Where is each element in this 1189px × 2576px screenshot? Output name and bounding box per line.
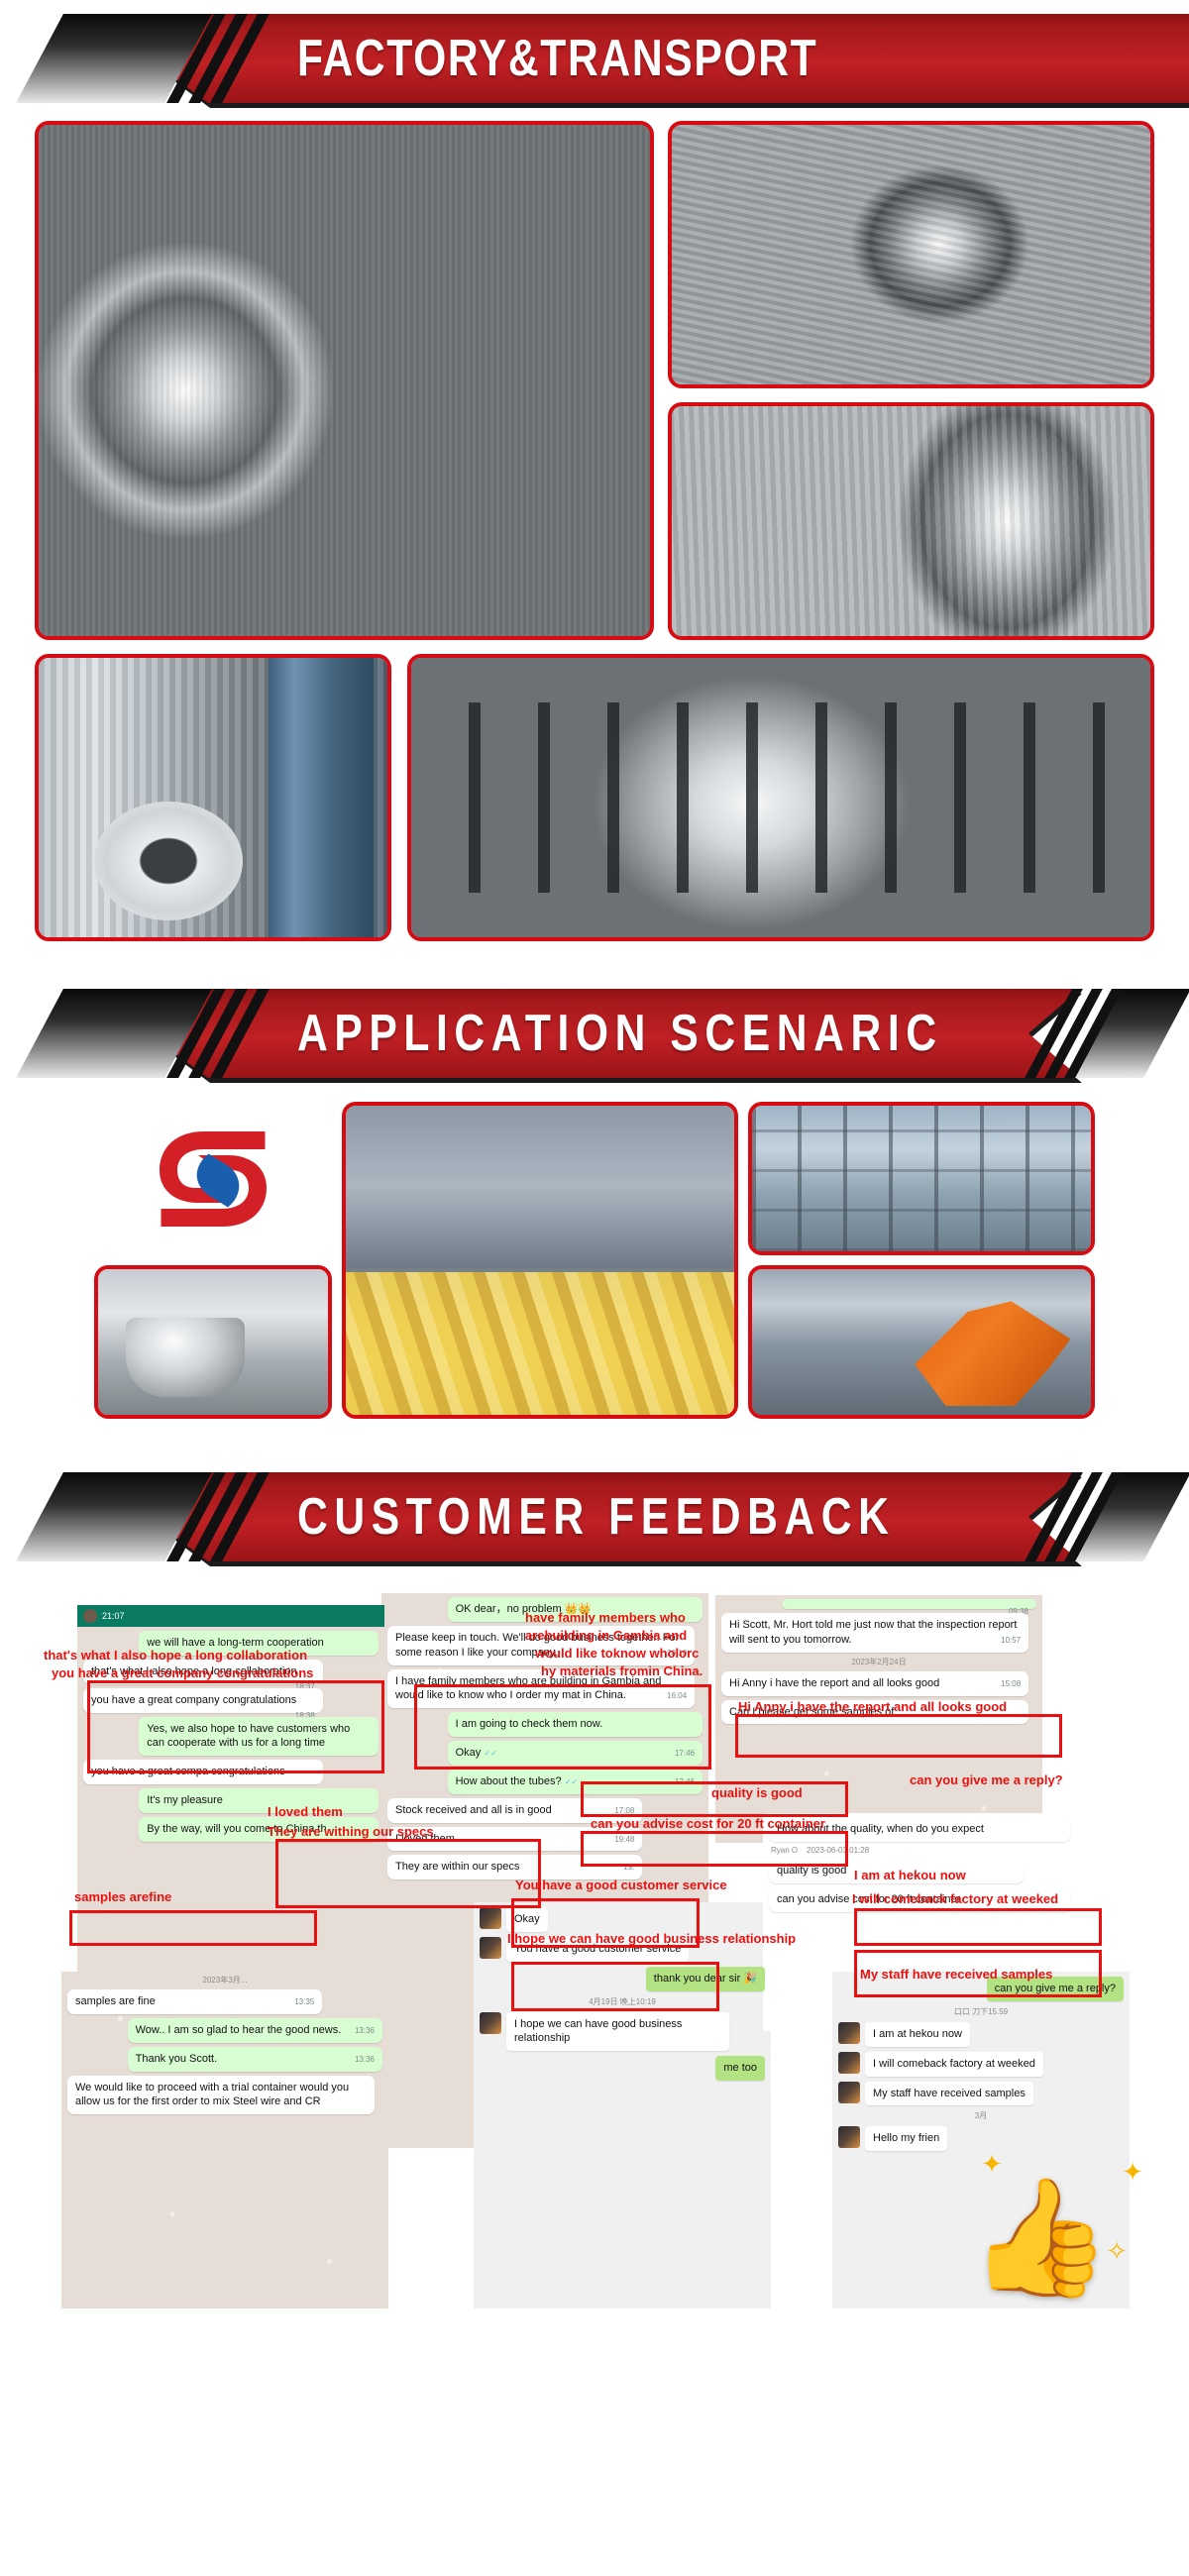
chat-row: I am at hekou now (838, 2022, 1124, 2047)
customer-feedback-collage: 21:07 we will have a long-term cooperati… (0, 1575, 1189, 2328)
image-coil-slitting-machine (668, 121, 1154, 388)
chat-bubble: Yes, we also hope to have customers who … (139, 1717, 378, 1757)
chat-meta: 口口 刀下15.59 (832, 2006, 1130, 2017)
section-banner-application: APPLICATION SCENARIC (0, 975, 1189, 1092)
chat-bubble: Wow.. I am so glad to hear the good news… (128, 2018, 382, 2043)
chat-bubble: How about the tubes? 17:46 ✓✓ (448, 1770, 703, 1794)
chat-bubble: Hi Anny i have the report and all looks … (721, 1671, 1028, 1696)
annotation-text: that's what I also hope a long collabora… (44, 1649, 307, 1664)
annotation-text: quality is good (711, 1786, 803, 1801)
chat-bubble: 09:38 (782, 1599, 1036, 1609)
factory-image-grid (35, 121, 1154, 941)
banner-bar: CUSTOMER FEEDBACK (149, 1472, 1080, 1561)
image-automotive-robots (748, 1265, 1095, 1419)
annotation-text: You have a good customer service (515, 1878, 727, 1893)
section-title-factory: FACTORY&TRANSPORT (297, 29, 817, 88)
image-coil-closeup (668, 402, 1154, 640)
chat-screenshot-samples-are-fine: 2023年3月... samples are fine 13:35 Wow.. … (61, 1972, 388, 2308)
banner-stripes-left (40, 1472, 268, 1561)
image-food-processing-line (342, 1102, 738, 1419)
chat-row: I hope we can have good business relatio… (480, 2012, 765, 2052)
banner-bar: APPLICATION SCENARIC (149, 989, 1080, 1078)
annotation-text: can you give me a reply? (910, 1773, 1063, 1788)
banner-stripes-left (40, 989, 268, 1078)
sparkle-icon: ✦ (1122, 2157, 1143, 2188)
avatar (838, 2052, 860, 2074)
chat-bubble: We would like to proceed with a trial co… (67, 2076, 375, 2115)
image-company-logo (94, 1102, 332, 1255)
chat-row: me too (480, 2056, 765, 2081)
annotation-text: hy materials fromin China. (541, 1664, 703, 1679)
chat-text: Wow.. I am so glad to hear the good news… (136, 2024, 342, 2036)
image-kitchenware-pots (94, 1265, 332, 1419)
chat-bubble: Okay (506, 1907, 548, 1932)
chat-row: Hello my frien (838, 2126, 1124, 2151)
chat-time: 13:36 (355, 2026, 375, 2037)
avatar (480, 1937, 501, 1959)
chat-bubble: Thank you Scott. 13:36 (128, 2047, 382, 2072)
annotation-text: I am at hekou now (854, 1869, 966, 1883)
annotation-text: They are withing our specs (268, 1825, 434, 1840)
chat-time: 13:35 (294, 1997, 314, 2008)
chat-bubble: My staff have received samples (865, 2082, 1033, 2106)
annotation-text: My staff have received samples (860, 1968, 1052, 1983)
read-receipt-icon: ✓✓ (565, 1777, 578, 1786)
contact-avatar-icon (83, 1609, 97, 1623)
annotation-text: can you advise cost for 20 ft container (591, 1817, 825, 1832)
chat-row: My staff have received samples (838, 2082, 1124, 2106)
chat-date-label: 2023年2月24日 (715, 1657, 1042, 1667)
chat-text: They are within our specs (395, 1861, 519, 1873)
chat-header: 21:07 (77, 1605, 384, 1627)
image-coils-strapped-truck (407, 654, 1154, 941)
chat-bubble: me too (715, 2056, 765, 2081)
avatar (838, 2082, 860, 2103)
chat-bubble: Hi Scott, Mr. Hort told me just now that… (721, 1613, 1028, 1653)
chat-row: Okay (480, 1907, 765, 1932)
chat-text: Okay (456, 1747, 482, 1759)
chat-bubble: thank you dear sir 🎉 (646, 1967, 765, 1991)
chat-time: 15:08 (1001, 1679, 1021, 1690)
annotation-text: I loved them (268, 1805, 343, 1820)
thumbs-up-icon: 👍 (969, 2180, 1112, 2295)
chat-screenshot-inspection-report: 09:38 Hi Scott, Mr. Hort told me just no… (715, 1595, 1042, 1843)
chat-date-label: 2023年3月... (61, 1975, 388, 1986)
annotation-text: would like toknow wholorc (535, 1647, 699, 1662)
chat-text: How about the tubes? (456, 1775, 562, 1787)
banner-bar: FACTORY&TRANSPORT (149, 14, 1189, 103)
chat-sender-meta: Ryan O 2023-06-03 01:28 (763, 1846, 1090, 1855)
chat-meta: 4月19日 晚上10:19 (474, 1996, 771, 2007)
chat-screenshot-customer-service: Okay You have a good customer service th… (474, 1902, 771, 2308)
chat-meta: 3月 (832, 2110, 1130, 2121)
chat-timestamp: 21:07 (102, 1611, 125, 1621)
chat-bubble: I hope we can have good business relatio… (506, 2012, 729, 2052)
annotation-text: samples arefine (74, 1890, 171, 1905)
annotation-text: have family members who (525, 1611, 686, 1626)
chat-bubble: They are within our specs 19: (387, 1855, 642, 1879)
chat-bubble: I will comeback factory at weeked (865, 2052, 1043, 2077)
image-large-steel-coils (35, 121, 654, 640)
annotation-text: Hi Anny i have the report and all looks … (738, 1700, 1007, 1715)
avatar (838, 2126, 860, 2148)
chat-time: 13:36 (355, 2055, 375, 2066)
application-image-grid (94, 1102, 1095, 1419)
chat-time: 17:46 (675, 1777, 695, 1788)
annotation-text: I will comeback factory at weeked (852, 1892, 1058, 1907)
chat-time: 19: (623, 1863, 634, 1874)
annotation-text: arebuilding in Gambia and (525, 1629, 687, 1644)
chat-text: samples are fine (75, 1995, 156, 2007)
sparkle-icon: ✧ (1106, 2236, 1128, 2267)
banner-stripes-right (1048, 989, 1167, 1078)
sender-name: Ryan O (771, 1846, 798, 1855)
chat-text: Hi Scott, Mr. Hort told me just now that… (729, 1619, 1017, 1646)
chat-text: Hi Anny i have the report and all looks … (729, 1677, 939, 1689)
banner-stripes-right (1048, 1472, 1167, 1561)
chat-bubble: I am going to check them now. (448, 1712, 703, 1737)
annotation-text: I hope we can have good business relatio… (507, 1932, 796, 1947)
chat-time: 17:08 (614, 1806, 634, 1817)
avatar (480, 1907, 501, 1929)
sparkle-icon: ✦ (981, 2149, 1003, 2180)
chat-time: 19:48 (614, 1835, 634, 1846)
chat-text: you have a great company congratulations (91, 1694, 296, 1706)
read-receipt-icon: ✓✓ (484, 1749, 496, 1758)
product-detail-page: FACTORY&TRANSPORT (0, 0, 1189, 2328)
section-banner-factory: FACTORY&TRANSPORT (0, 0, 1189, 117)
chat-bubble: Okay 17:46 ✓✓ (448, 1741, 703, 1766)
avatar (838, 2022, 860, 2044)
avatar (480, 2012, 501, 2034)
company-s-logo-icon (139, 1105, 287, 1253)
image-steel-structure (748, 1102, 1095, 1255)
chat-bubble: samples are fine 13:35 (67, 1989, 322, 2014)
image-container-loading (35, 654, 391, 941)
section-title-feedback: CUSTOMER FEEDBACK (297, 1487, 895, 1547)
chat-time: 17:46 (675, 1749, 695, 1760)
section-title-application: APPLICATION SCENARIC (297, 1004, 943, 1063)
chat-text: Stock received and all is in good (395, 1804, 552, 1816)
chat-bubble: you have a great company congratulations… (83, 1688, 323, 1713)
chat-row: I will comeback factory at weeked (838, 2052, 1124, 2077)
chat-bubble: you have a great compa congratulations (83, 1760, 323, 1784)
chat-row: thank you dear sir 🎉 (480, 1967, 765, 1991)
sender-timestamp: 2023-06-03 01:28 (807, 1846, 869, 1855)
section-banner-feedback: CUSTOMER FEEDBACK (0, 1458, 1189, 1575)
banner-stripes-left (40, 14, 268, 103)
chat-bubble: Hello my frien (865, 2126, 947, 2151)
annotation-text: you have a great company congratulations (52, 1666, 313, 1681)
chat-time: 16:04 (667, 1691, 687, 1702)
chat-bubble: I am at hekou now (865, 2022, 970, 2047)
chat-time: 10:57 (1001, 1636, 1021, 1647)
chat-text: Thank you Scott. (136, 2053, 218, 2065)
